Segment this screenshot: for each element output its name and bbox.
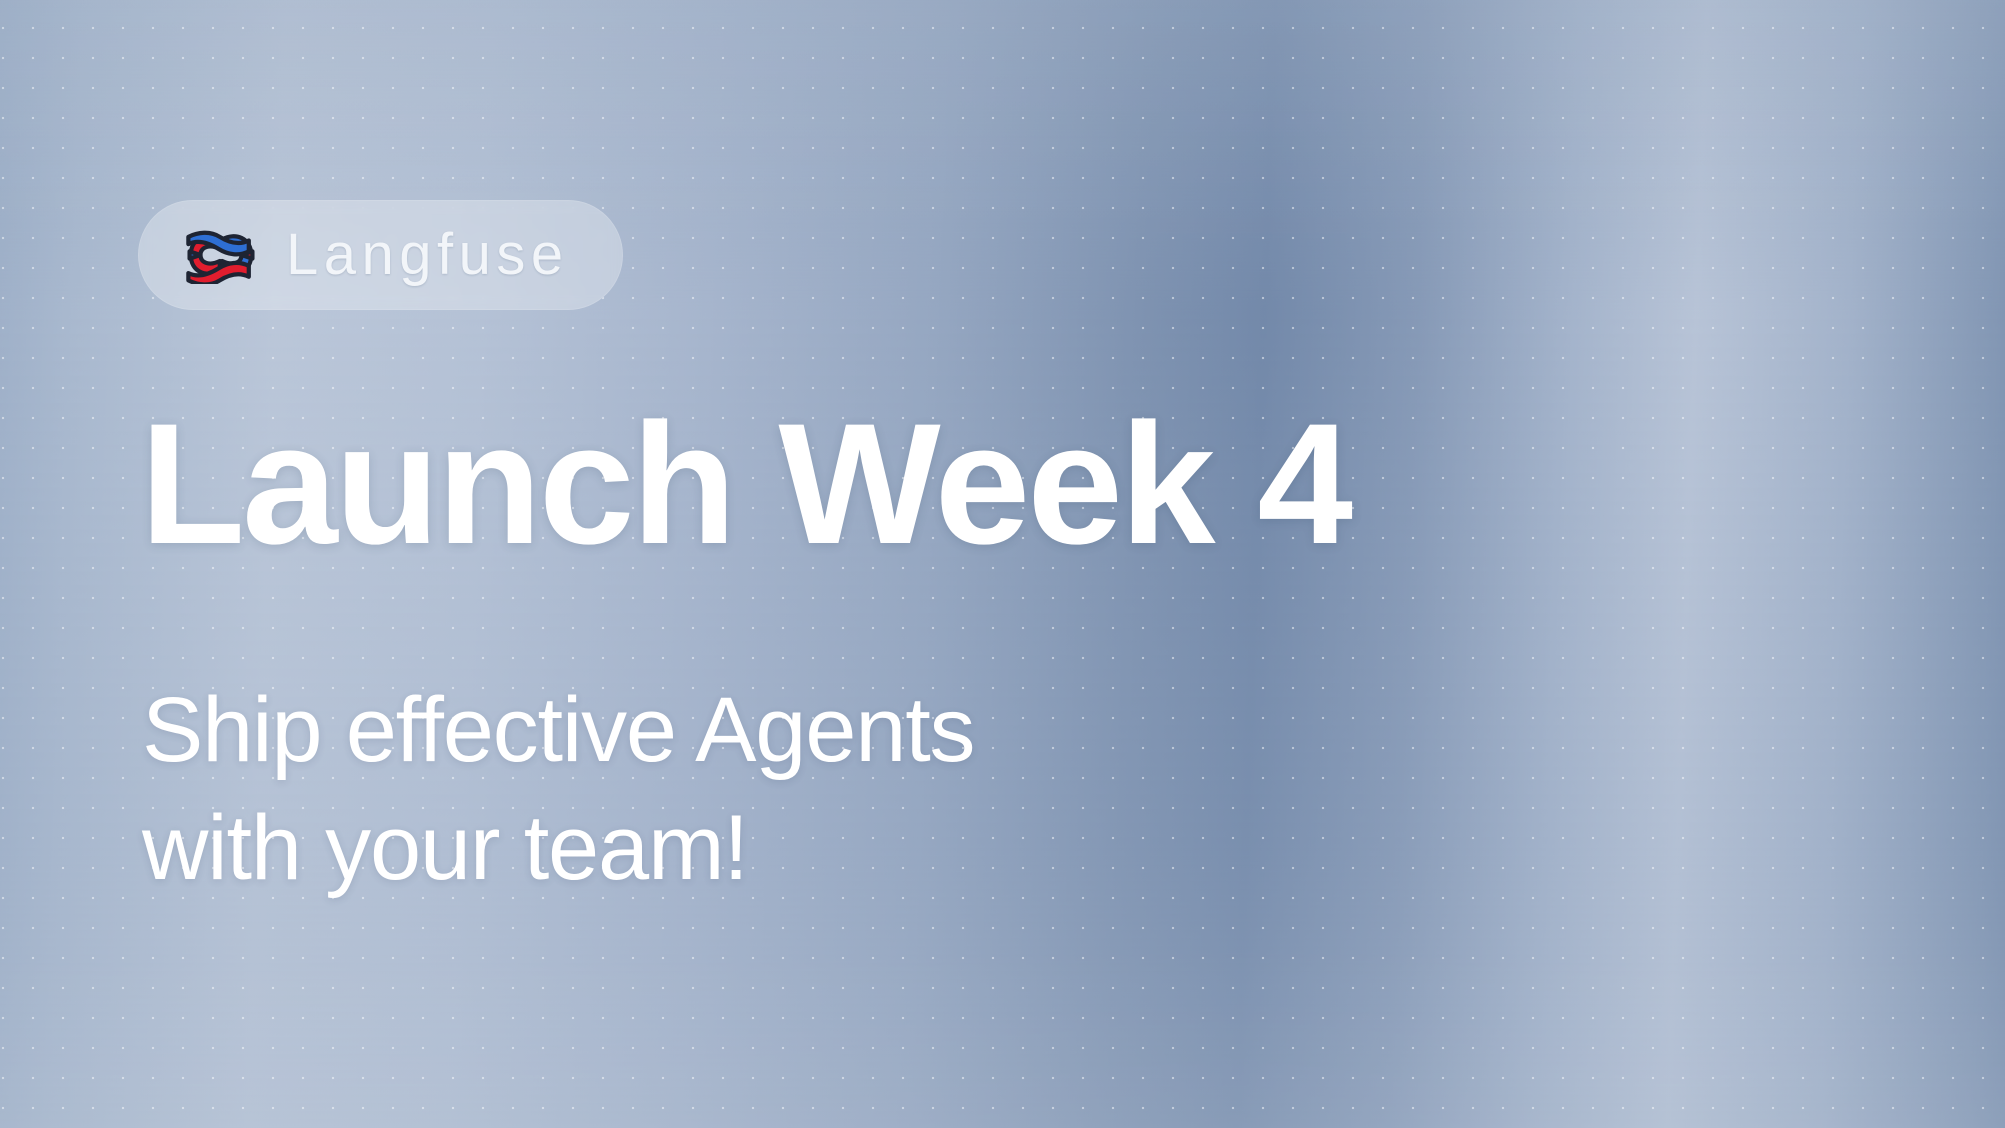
page-subtitle-line-1: Ship effective Agents (142, 672, 974, 790)
launch-week-hero-banner: Langfuse Launch Week 4 Ship effective Ag… (0, 0, 2005, 1128)
page-title: Launch Week 4 (140, 398, 1350, 570)
brand-badge[interactable]: Langfuse (138, 200, 623, 310)
hero-content: Langfuse Launch Week 4 Ship effective Ag… (138, 0, 1938, 1128)
page-subtitle: Ship effective Agents with your team! (142, 672, 974, 908)
brand-name-label: Langfuse (286, 226, 569, 284)
page-subtitle-line-2: with your team! (142, 790, 974, 908)
langfuse-knot-logo-icon (182, 226, 260, 284)
